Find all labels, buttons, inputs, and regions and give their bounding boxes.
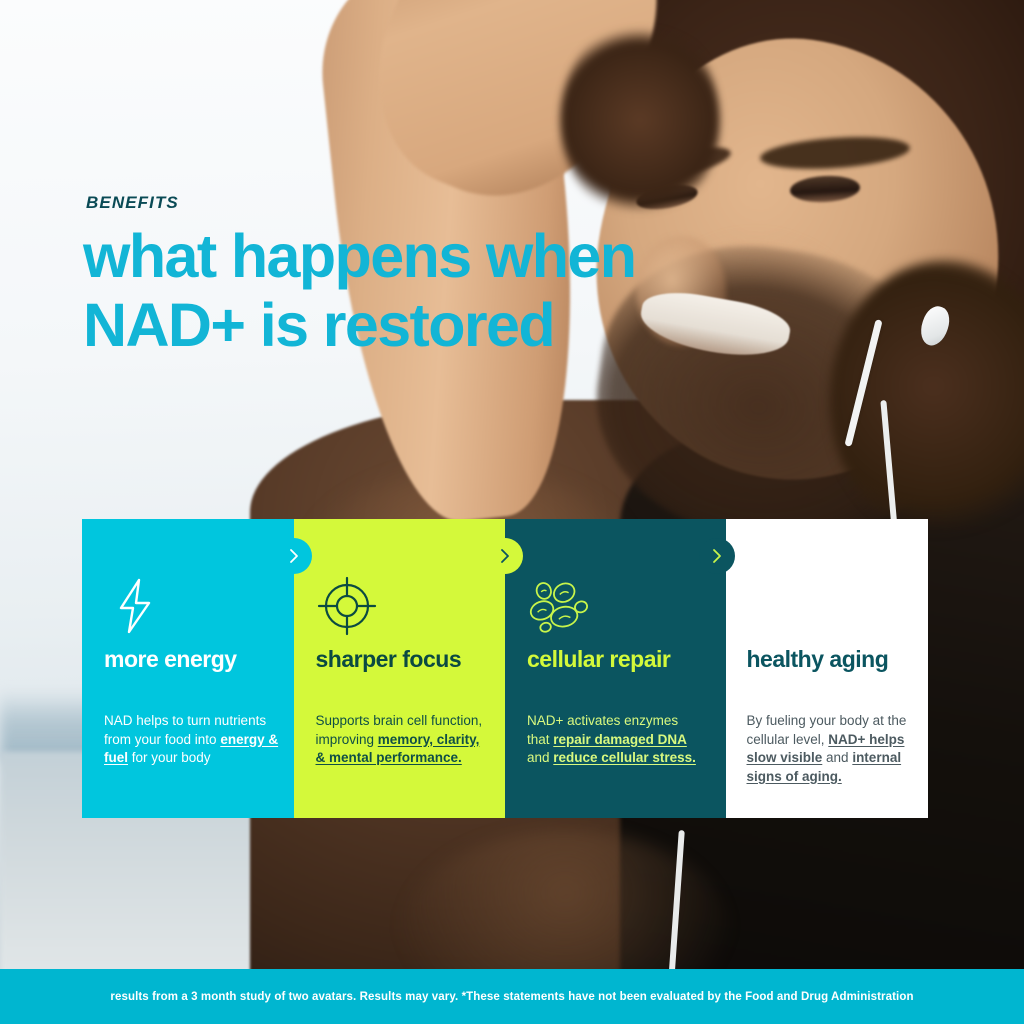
- lightning-bolt-icon: [104, 575, 166, 637]
- benefit-card-body: NAD helps to turn nutrients from your fo…: [104, 712, 280, 768]
- disclaimer-text: results from a 3 month study of two avat…: [110, 991, 913, 1003]
- target-crosshair-icon: [316, 575, 378, 637]
- benefit-card-more-energy[interactable]: more energy NAD helps to turn nutrients …: [82, 519, 294, 818]
- background-photo-man-stretching: [0, 0, 1024, 1024]
- page-title: what happens when NAD+ is restored: [83, 222, 643, 360]
- benefit-card-title: sharper focus: [316, 647, 496, 672]
- disclaimer-bar: results from a 3 month study of two avat…: [0, 969, 1024, 1024]
- benefit-card-sharper-focus[interactable]: sharper focus Supports brain cell functi…: [294, 519, 506, 818]
- benefit-card-title: cellular repair: [527, 647, 707, 672]
- benefit-card-body: NAD+ activates enzymes that repair damag…: [527, 712, 703, 768]
- benefit-card-body: Supports brain cell function, improving …: [316, 712, 492, 768]
- eyebrow-label: BENEFITS: [86, 193, 179, 213]
- benefit-card-title: more energy: [104, 647, 284, 672]
- chevron-right-icon[interactable]: [699, 538, 735, 574]
- benefit-card-body: By fueling your body at the cellular lev…: [747, 712, 915, 786]
- benefit-card-healthy-aging[interactable]: healthy aging By fueling your body at th…: [717, 519, 929, 818]
- chevron-right-icon[interactable]: [276, 538, 312, 574]
- cells-icon: [527, 575, 589, 637]
- hair-curl-front: [560, 20, 720, 220]
- chevron-right-icon[interactable]: [487, 538, 523, 574]
- benefit-card-title: healthy aging: [747, 647, 927, 672]
- benefits-infographic: BENEFITS what happens when NAD+ is resto…: [0, 0, 1024, 1024]
- benefit-card-cellular-repair[interactable]: cellular repair NAD+ activates enzymes t…: [505, 519, 717, 818]
- benefit-cards-carousel: more energy NAD helps to turn nutrients …: [82, 519, 928, 818]
